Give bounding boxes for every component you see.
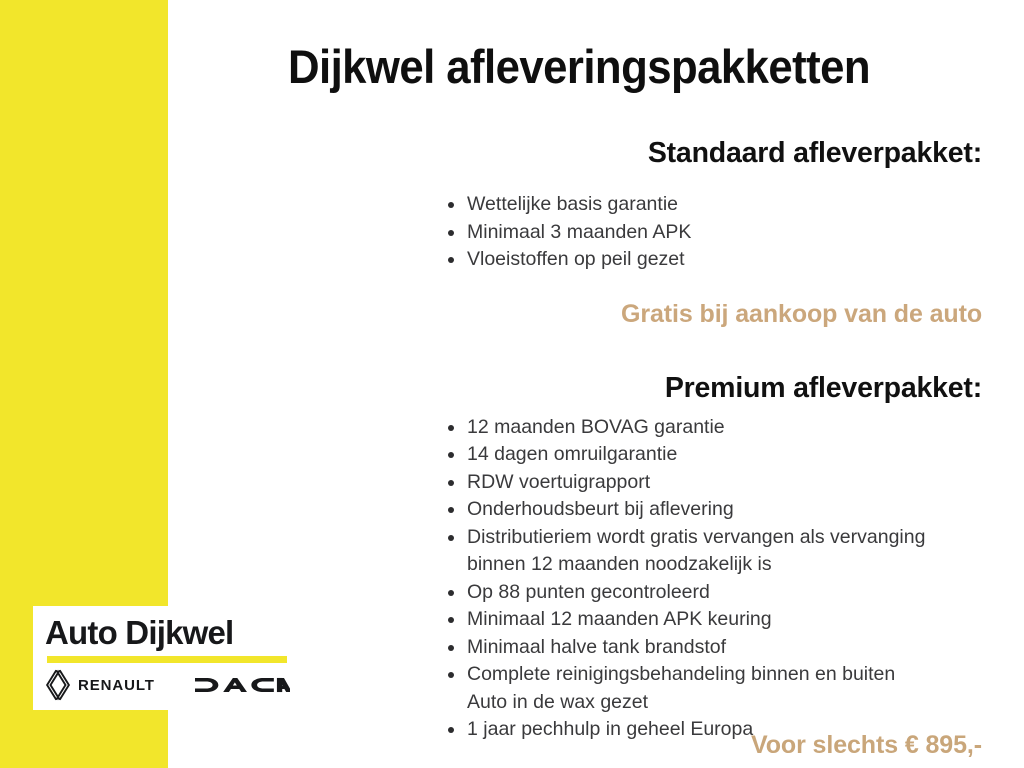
- list-item-label: Op 88 punten gecontroleerd: [467, 579, 982, 607]
- bullet-icon: [448, 230, 454, 236]
- list-item: Complete reinigingsbehandeling binnen en…: [435, 661, 982, 716]
- list-item: Minimaal halve tank brandstof: [435, 634, 982, 662]
- standard-package-heading: Standaard afleverpakket:: [176, 138, 982, 169]
- list-item: Onderhoudsbeurt bij aflevering: [435, 496, 982, 524]
- dealer-wordmark: Auto Dijkwel: [45, 614, 290, 652]
- bullet-icon: [448, 202, 454, 208]
- list-item: 12 maanden BOVAG garantie: [435, 414, 982, 442]
- brand-logos-row: RENAULT: [45, 669, 290, 701]
- bullet-icon: [448, 645, 454, 651]
- bullet-icon: [448, 535, 454, 541]
- dealer-logo-card: Auto Dijkwel RENAULT: [33, 606, 300, 710]
- list-item-label: RDW voertuigrapport: [467, 469, 982, 497]
- renault-diamond-icon: [45, 669, 71, 701]
- renault-logo: RENAULT: [45, 669, 155, 701]
- renault-label: RENAULT: [78, 677, 155, 694]
- bullet-icon: [448, 425, 454, 431]
- dacia-logo: [195, 675, 290, 695]
- list-item: Minimaal 3 maanden APK: [435, 219, 982, 247]
- list-item-label-continued: Auto in de wax gezet: [467, 689, 982, 717]
- list-item-label: Wettelijke basis garantie: [467, 191, 982, 219]
- poster-canvas: Dijkwel afleveringspakketten Standaard a…: [0, 0, 1024, 768]
- list-item-label: Minimaal 3 maanden APK: [467, 219, 982, 247]
- page-title: Dijkwel afleveringspakketten: [204, 0, 954, 92]
- list-item: RDW voertuigrapport: [435, 469, 982, 497]
- list-item-label: Distributieriem wordt gratis vervangen a…: [467, 524, 982, 552]
- list-item: Minimaal 12 maanden APK keuring: [435, 606, 982, 634]
- list-item: Op 88 punten gecontroleerd: [435, 579, 982, 607]
- premium-package-price-note: Voor slechts € 895,-: [751, 731, 982, 760]
- list-item: Wettelijke basis garantie: [435, 191, 982, 219]
- standard-package-note: Gratis bij aankoop van de auto: [176, 300, 982, 329]
- bullet-icon: [448, 507, 454, 513]
- bullet-icon: [448, 452, 454, 458]
- bullet-icon: [448, 257, 454, 263]
- list-item-label: Minimaal 12 maanden APK keuring: [467, 606, 982, 634]
- bullet-icon: [448, 672, 454, 678]
- list-item-label: Vloeistoffen op peil gezet: [467, 246, 982, 274]
- standard-package-block: Standaard afleverpakket: Wettelijke basi…: [176, 138, 982, 329]
- bullet-icon: [448, 590, 454, 596]
- content-column: Dijkwel afleveringspakketten Standaard a…: [176, 0, 1024, 768]
- list-item-label: 14 dagen omruilgarantie: [467, 441, 982, 469]
- list-item-label: 12 maanden BOVAG garantie: [467, 414, 982, 442]
- premium-package-heading: Premium afleverpakket:: [176, 373, 982, 404]
- list-item: 14 dagen omruilgarantie: [435, 441, 982, 469]
- list-item: Vloeistoffen op peil gezet: [435, 246, 982, 274]
- list-item-label-continued: binnen 12 maanden noodzakelijk is: [467, 551, 982, 579]
- list-item-label: Onderhoudsbeurt bij aflevering: [467, 496, 982, 524]
- list-item-label: Minimaal halve tank brandstof: [467, 634, 982, 662]
- bullet-icon: [448, 480, 454, 486]
- list-item-label: Complete reinigingsbehandeling binnen en…: [467, 661, 982, 689]
- bullet-icon: [448, 617, 454, 623]
- standard-package-list: Wettelijke basis garantie Minimaal 3 maa…: [176, 191, 982, 274]
- bullet-icon: [448, 727, 454, 733]
- list-item: Distributieriem wordt gratis vervangen a…: [435, 524, 982, 579]
- logo-underline-rule: [47, 656, 287, 663]
